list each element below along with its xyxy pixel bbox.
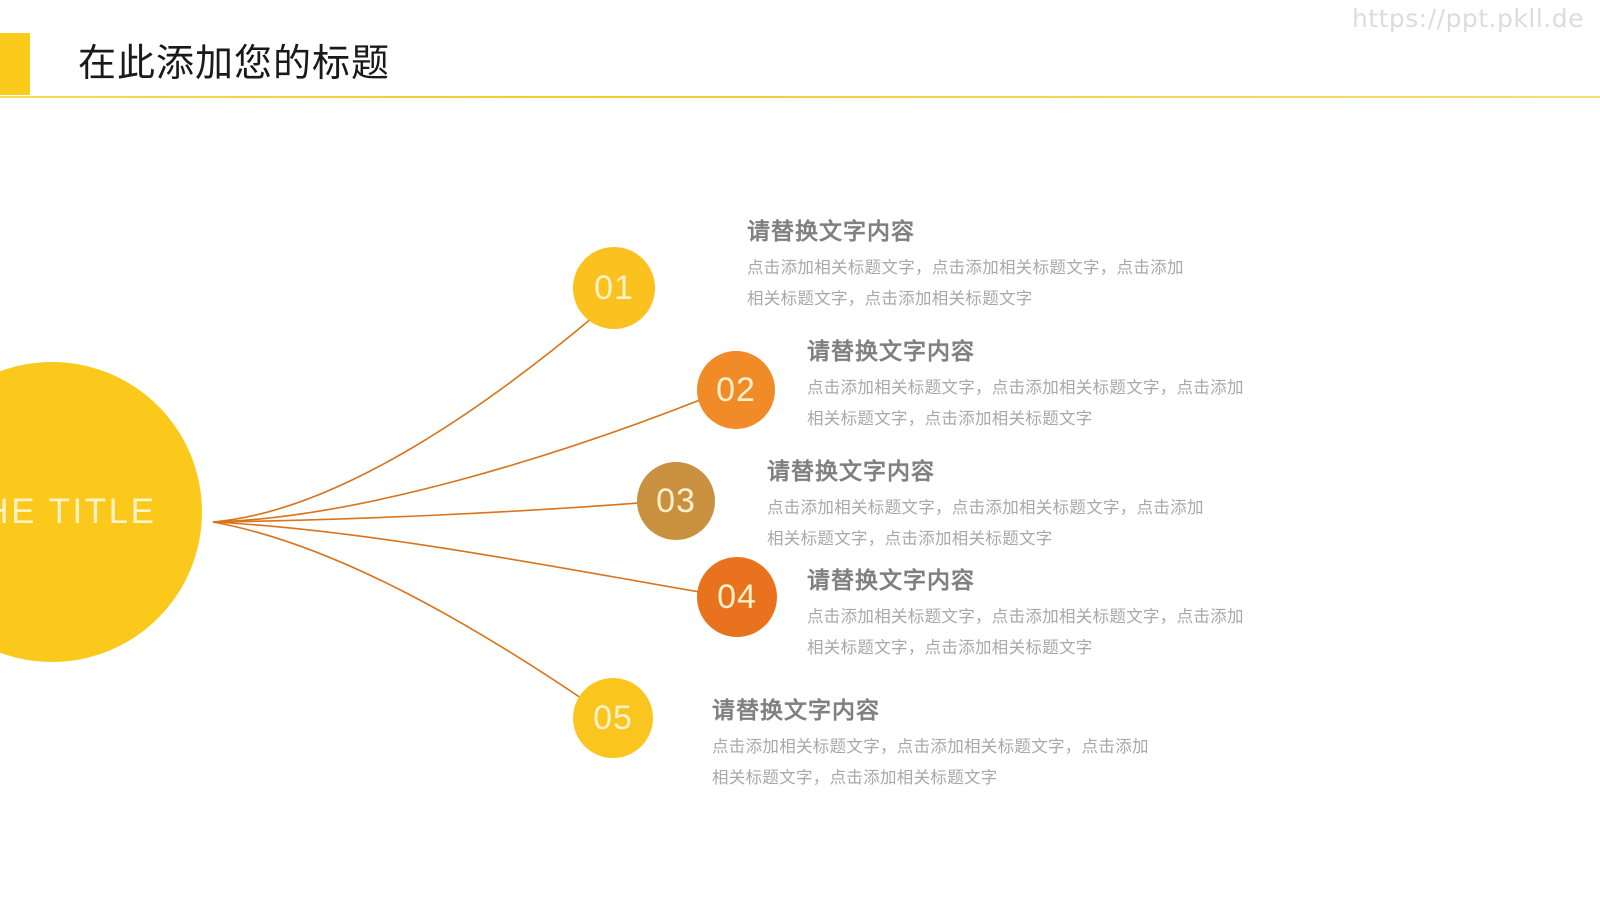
- connector-line-05: [213, 522, 584, 700]
- text-block-05: 请替换文字内容点击添加相关标题文字，点击添加相关标题文字，点击添加相关标题文字，…: [712, 695, 1162, 794]
- block-body-04: 点击添加相关标题文字，点击添加相关标题文字，点击添加相关标题文字，点击添加相关标…: [807, 602, 1257, 664]
- block-body-01: 点击添加相关标题文字，点击添加相关标题文字，点击添加相关标题文字，点击添加相关标…: [747, 253, 1197, 315]
- number-circle-01[interactable]: 01: [573, 247, 655, 329]
- connector-line-03: [213, 503, 638, 522]
- block-heading-02: 请替换文字内容: [807, 336, 1257, 366]
- number-circle-02[interactable]: 02: [697, 351, 775, 429]
- header-divider: [0, 96, 1600, 98]
- connector-line-04: [213, 522, 700, 592]
- block-heading-03: 请替换文字内容: [767, 456, 1217, 486]
- watermark-url: https://ppt.pkll.de: [1352, 4, 1584, 33]
- block-body-03: 点击添加相关标题文字，点击添加相关标题文字，点击添加相关标题文字，点击添加相关标…: [767, 493, 1217, 555]
- text-block-01: 请替换文字内容点击添加相关标题文字，点击添加相关标题文字，点击添加相关标题文字，…: [747, 216, 1197, 315]
- page-title: 在此添加您的标题: [78, 38, 390, 90]
- text-block-04: 请替换文字内容点击添加相关标题文字，点击添加相关标题文字，点击添加相关标题文字，…: [807, 565, 1257, 664]
- block-heading-05: 请替换文字内容: [712, 695, 1162, 725]
- block-heading-04: 请替换文字内容: [807, 565, 1257, 595]
- number-circle-03[interactable]: 03: [637, 462, 715, 540]
- number-circle-05[interactable]: 05: [573, 678, 653, 758]
- header-accent-bar: [0, 33, 30, 95]
- block-heading-01: 请替换文字内容: [747, 216, 1197, 246]
- block-body-05: 点击添加相关标题文字，点击添加相关标题文字，点击添加相关标题文字，点击添加相关标…: [712, 732, 1162, 794]
- text-block-03: 请替换文字内容点击添加相关标题文字，点击添加相关标题文字，点击添加相关标题文字，…: [767, 456, 1217, 555]
- text-block-02: 请替换文字内容点击添加相关标题文字，点击添加相关标题文字，点击添加相关标题文字，…: [807, 336, 1257, 435]
- connector-line-02: [213, 400, 700, 522]
- number-circle-04[interactable]: 04: [697, 557, 777, 637]
- center-title-circle[interactable]: THE TITLE: [0, 362, 202, 662]
- center-title-label: THE TITLE: [0, 492, 156, 532]
- slide-canvas: https://ppt.pkll.de 在此添加您的标题 THE TITLE 0…: [0, 0, 1600, 900]
- connector-line-01: [213, 318, 592, 522]
- block-body-02: 点击添加相关标题文字，点击添加相关标题文字，点击添加相关标题文字，点击添加相关标…: [807, 373, 1257, 435]
